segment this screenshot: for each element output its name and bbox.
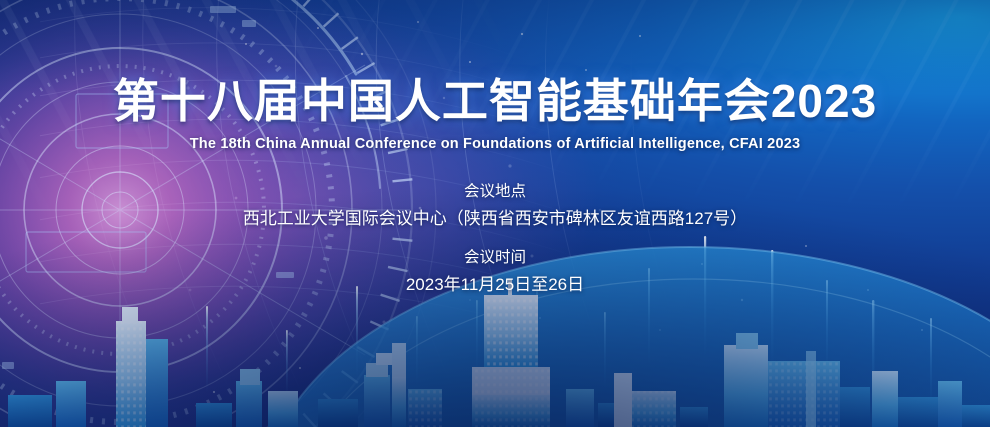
banner-content: 第十八届中国人工智能基础年会2023 The 18th China Annual… <box>0 0 990 427</box>
conference-banner: 第十八届中国人工智能基础年会2023 The 18th China Annual… <box>0 0 990 427</box>
venue-label: 会议地点 <box>0 182 990 203</box>
venue-value: 西北工业大学国际会议中心（陕西省西安市碑林区友谊西路127号） <box>0 208 990 231</box>
page-subtitle: The 18th China Annual Conference on Foun… <box>0 136 990 152</box>
date-value: 2023年11月25日至26日 <box>0 274 990 297</box>
page-title: 第十八届中国人工智能基础年会2023 <box>0 78 990 124</box>
date-label: 会议时间 <box>0 248 990 269</box>
info-block: 会议地点 西北工业大学国际会议中心（陕西省西安市碑林区友谊西路127号） 会议时… <box>0 182 990 297</box>
info-spacer <box>0 231 990 248</box>
title-block: 第十八届中国人工智能基础年会2023 The 18th China Annual… <box>0 78 990 152</box>
